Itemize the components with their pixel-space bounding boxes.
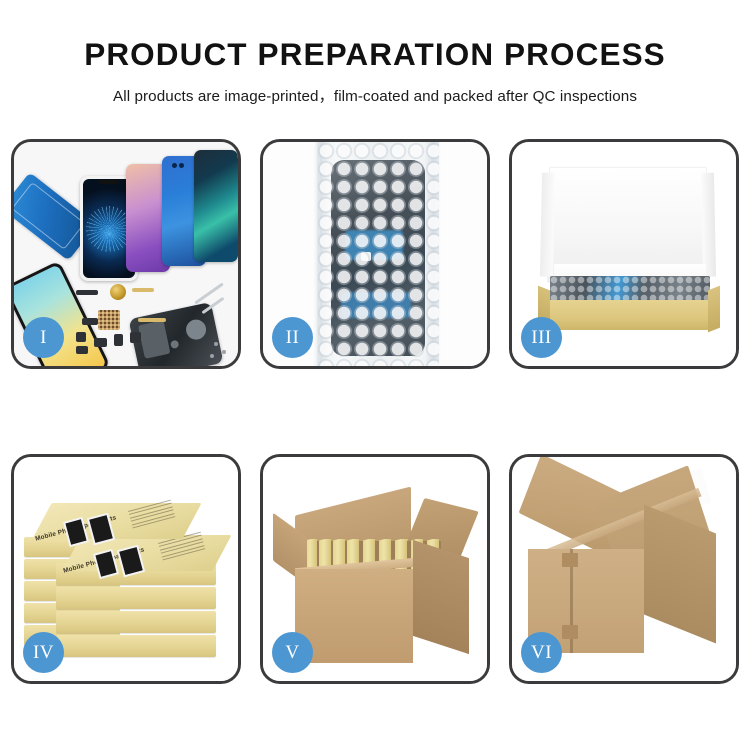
- camera-holepunch: [172, 163, 177, 168]
- camera-holepunch-secondary: [179, 163, 184, 168]
- screw-part-icon: [214, 342, 218, 346]
- carton-tab: [562, 553, 578, 567]
- step-5-illustration: V: [263, 457, 487, 681]
- sim-tray-part-icon: [130, 332, 141, 343]
- screw-part-icon-3: [210, 354, 214, 358]
- chip-array-part-icon: [98, 310, 120, 330]
- speaker-coil-part-icon: [110, 284, 126, 300]
- step-1-illustration: I: [14, 142, 238, 366]
- phone-teal-icon: [194, 150, 238, 262]
- process-step-panel-1[interactable]: I: [11, 139, 241, 369]
- page-subtitle: All products are image-printed，film-coat…: [0, 73, 750, 106]
- carton-tab-2: [562, 625, 578, 639]
- bubble-wrap-texture-icon: [317, 142, 439, 366]
- step-badge-4: IV: [23, 632, 64, 673]
- gift-box-base-icon: [546, 300, 712, 330]
- process-step-panel-5[interactable]: V: [260, 454, 490, 684]
- step-badge-3: III: [521, 317, 562, 358]
- page-title: PRODUCT PREPARATION PROCESS: [0, 0, 750, 73]
- step-4-illustration: Mobile Phone Spare Parts Mobile Phone Sp…: [14, 457, 238, 681]
- process-step-panel-3[interactable]: III: [509, 139, 739, 369]
- step-2-illustration: II: [263, 142, 487, 366]
- process-step-grid: I II III: [11, 139, 739, 684]
- process-step-panel-6[interactable]: VI: [509, 454, 739, 684]
- process-step-panel-4[interactable]: Mobile Phone Spare Parts Mobile Phone Sp…: [11, 454, 241, 684]
- flex-cable-part-icon: [132, 288, 154, 292]
- stacked-box-edge: [56, 635, 216, 657]
- step-badge-5: V: [272, 632, 313, 673]
- step-badge-1: I: [23, 317, 64, 358]
- flex-cable-part-icon-2: [138, 318, 166, 322]
- step-6-illustration: VI: [512, 457, 736, 681]
- step-3-illustration: III: [512, 142, 736, 366]
- screw-part-icon-2: [222, 350, 226, 354]
- stacked-box-edge: [56, 587, 216, 609]
- earpiece-mesh-part-icon: [76, 290, 98, 295]
- page-header: PRODUCT PREPARATION PROCESS All products…: [0, 0, 750, 106]
- vibration-motor-part-icon: [76, 332, 86, 342]
- process-step-panel-2[interactable]: II: [260, 139, 490, 369]
- carton-side-face-icon: [413, 540, 469, 654]
- camera-module-part-icon: [94, 338, 107, 347]
- stacked-box-edge: [56, 611, 216, 633]
- step-badge-2: II: [272, 317, 313, 358]
- battery-connector-part-icon: [114, 334, 123, 346]
- step-badge-6: VI: [521, 632, 562, 673]
- phone-notch: [98, 180, 120, 184]
- connector-part-icon: [82, 318, 98, 325]
- buzzer-part-icon: [76, 346, 88, 354]
